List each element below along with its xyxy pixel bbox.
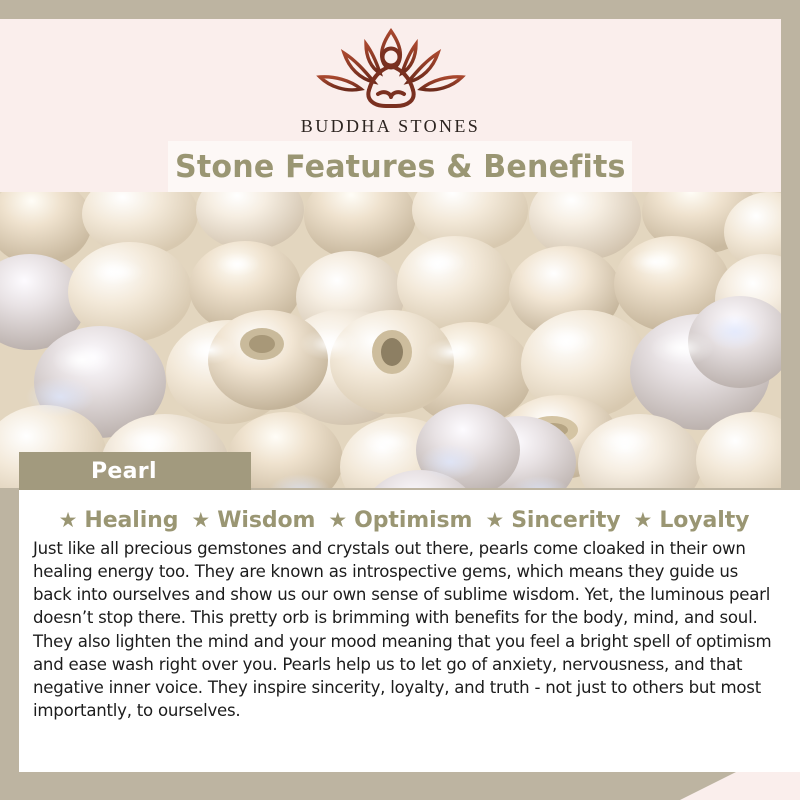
benefit-label: Wisdom <box>217 508 315 533</box>
frame-band-top <box>0 0 800 19</box>
brand-name: BUDDHA STONES <box>0 116 781 137</box>
description-card: ★ Healing ★ Wisdom ★ Optimism ★ Sincerit… <box>19 490 800 772</box>
brand-logo: BUDDHA STONES <box>0 22 781 137</box>
benefit-item-loyalty: ★ Loyalty <box>634 508 750 533</box>
hero-image <box>0 192 781 488</box>
page-title: Stone Features & Benefits <box>175 149 626 185</box>
frame-band-bottom <box>0 770 800 800</box>
star-icon: ★ <box>191 510 210 531</box>
benefit-item-sincerity: ★ Sincerity <box>485 508 620 533</box>
benefits-list: ★ Healing ★ Wisdom ★ Optimism ★ Sincerit… <box>33 490 775 533</box>
title-banner: Stone Features & Benefits <box>168 141 632 192</box>
infographic-card: BUDDHA STONES Stone Features & Benefits <box>0 0 800 800</box>
benefit-label: Sincerity <box>511 508 620 533</box>
pearl-photo <box>0 192 781 488</box>
lotus-meditation-icon <box>306 22 476 114</box>
description-text: Just like all precious gemstones and cry… <box>33 538 778 723</box>
star-icon: ★ <box>634 510 653 531</box>
stone-name-tab: Pearl <box>19 452 251 490</box>
benefit-label: Healing <box>84 508 178 533</box>
star-icon: ★ <box>328 510 347 531</box>
benefit-item-optimism: ★ Optimism <box>328 508 472 533</box>
benefit-item-wisdom: ★ Wisdom <box>191 508 315 533</box>
benefit-label: Optimism <box>354 508 472 533</box>
star-icon: ★ <box>59 510 78 531</box>
frame-band-left <box>0 487 19 800</box>
benefit-label: Loyalty <box>659 508 749 533</box>
stone-name-label: Pearl <box>91 459 157 484</box>
benefit-item-healing: ★ Healing <box>59 508 179 533</box>
star-icon: ★ <box>485 510 504 531</box>
